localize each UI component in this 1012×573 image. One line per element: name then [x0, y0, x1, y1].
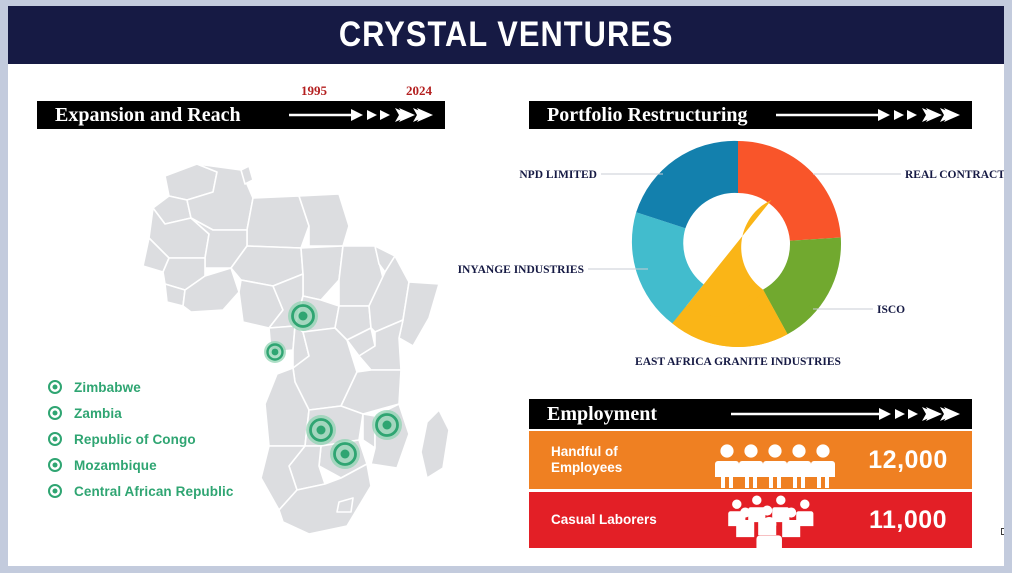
list-item[interactable]: Mozambique: [48, 452, 298, 478]
portfolio-section-header: Portfolio Restructuring: [529, 101, 972, 129]
list-item[interactable]: Central African Republic: [48, 478, 298, 504]
map-marker-mozambique: [372, 410, 402, 440]
bullet-marker-icon: [48, 432, 62, 446]
employment-row-value: 12,000: [844, 446, 972, 475]
expansion-section-header: Expansion and Reach: [37, 101, 445, 129]
list-item[interactable]: Republic of Congo: [48, 426, 298, 452]
country-label: Central African Republic: [74, 484, 233, 499]
employment-section-header: Employment: [529, 399, 972, 429]
employment-arrow-strip: [657, 399, 972, 429]
list-item[interactable]: Zimbabwe: [48, 374, 298, 400]
map-marker-republic-of-congo: [264, 341, 286, 363]
map-marker-zimbabwe: [330, 439, 360, 469]
slice-label-isco: ISCO: [877, 304, 905, 316]
bullet-marker-icon: [48, 406, 62, 420]
expansion-header-label: Expansion and Reach: [37, 104, 241, 127]
slice-label-npd-limited: NPD LIMITED: [519, 169, 597, 181]
people-crowd-icon: [709, 492, 844, 548]
country-label: Zambia: [74, 406, 122, 421]
map-marker-central-african-republic: [288, 301, 318, 331]
page-title: CRYSTAL VENTURES: [339, 15, 674, 55]
bullet-marker-icon: [48, 380, 62, 394]
progress-arrow-icon: [287, 105, 437, 125]
list-item[interactable]: Zambia: [48, 400, 298, 426]
portfolio-header-label: Portfolio Restructuring: [529, 104, 748, 127]
employment-row-employees: Handful of Employees 12,000: [529, 431, 972, 489]
year-start-label: 1995: [301, 83, 327, 99]
country-list: Zimbabwe Zambia Republic of Congo Mozamb…: [48, 374, 298, 504]
donut-chart-svg: REAL CONTRACTORS ISCO EAST AFRICA GRANIT…: [453, 134, 1004, 379]
slice-label-inyange-industries: INYANGE INDUSTRIES: [458, 264, 584, 276]
portfolio-donut-chart: REAL CONTRACTORS ISCO EAST AFRICA GRANIT…: [453, 134, 1004, 379]
presentation-slide: CRYSTAL VENTURES Expansion and Reach 199…: [8, 6, 1004, 566]
employment-row-label: Casual Laborers: [529, 512, 709, 528]
employment-row-label: Handful of Employees: [529, 444, 709, 476]
country-label: Zimbabwe: [74, 380, 141, 395]
employment-row-laborers: Casual Laborers 11,000: [529, 492, 972, 548]
resize-handle[interactable]: [1001, 528, 1004, 535]
slice-npd-limited: [636, 141, 738, 228]
progress-arrow-icon: [729, 404, 964, 424]
bullet-marker-icon: [48, 484, 62, 498]
slice-label-real-contractors: REAL CONTRACTORS: [905, 169, 1004, 181]
country-label: Republic of Congo: [74, 432, 196, 447]
map-marker-zambia: [306, 415, 336, 445]
portfolio-arrow-strip: [748, 101, 972, 129]
progress-arrow-icon: [774, 105, 964, 125]
country-label: Mozambique: [74, 458, 157, 473]
bullet-marker-icon: [48, 458, 62, 472]
employment-header-label: Employment: [529, 403, 657, 426]
donut-slices: [632, 141, 841, 347]
slice-label-east-africa-granite-industries: EAST AFRICA GRANITE INDUSTRIES: [635, 356, 841, 368]
people-row-icon: [709, 431, 844, 489]
slide-title-bar: CRYSTAL VENTURES: [8, 6, 1004, 64]
slice-real-contractors: [738, 141, 841, 241]
expansion-arrow-strip: [241, 101, 445, 129]
year-end-label: 2024: [406, 83, 432, 99]
employment-row-value: 11,000: [844, 506, 972, 535]
